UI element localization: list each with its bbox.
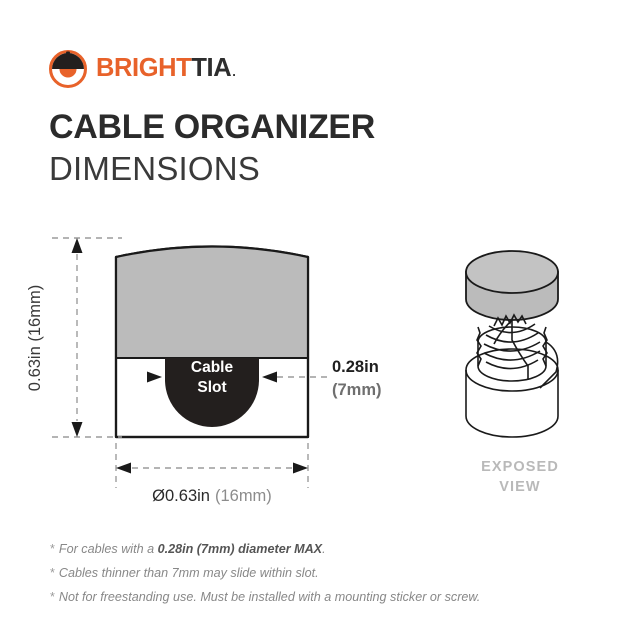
brand-name-dot: . <box>232 65 235 78</box>
brand-name-tia: TIA <box>191 56 231 82</box>
slot-dimension-value-in: 0.28in <box>332 358 379 376</box>
footnote-bullet: * <box>50 566 55 580</box>
footnote-text-post: . <box>322 542 326 556</box>
width-dimension: Ø0.63in(16mm) <box>116 443 308 505</box>
exposed-view-cap <box>466 251 558 320</box>
exposed-view-label: EXPOSED VIEW <box>440 458 600 497</box>
slot-label-line1: Cable <box>191 359 234 376</box>
brighttia-circle-logo-icon <box>49 50 87 88</box>
dimension-spec-sheet: BRIGHTTIA. CABLE ORGANIZER DIMENSIONS <box>0 0 640 640</box>
footnote-text-pre: Not for freestanding use. Must be instal… <box>59 590 480 604</box>
footnote-item: *Not for freestanding use. Must be insta… <box>50 591 595 604</box>
brand-logo: BRIGHTTIA. <box>49 50 235 88</box>
footnote-item: *Cables thinner than 7mm may slide withi… <box>50 567 595 580</box>
slot-dimension-value-mm: (7mm) <box>332 381 382 399</box>
width-value-in: Ø0.63in <box>152 487 210 505</box>
width-dimension-label: Ø0.63in(16mm) <box>152 487 272 505</box>
footnote-text-bold: 0.28in (7mm) diameter MAX <box>158 542 322 556</box>
page-title: CABLE ORGANIZER <box>49 110 375 146</box>
footnote-bullet: * <box>50 590 55 604</box>
width-value-mm: (16mm) <box>215 487 272 505</box>
brand-wordmark: BRIGHTTIA. <box>96 56 235 82</box>
brand-name-bright: BRIGHT <box>96 56 191 82</box>
exposed-view-label-line1: EXPOSED <box>440 458 600 478</box>
footnote-bullet: * <box>50 542 55 556</box>
page-subtitle: DIMENSIONS <box>49 152 260 187</box>
exposed-view-base <box>466 315 558 437</box>
footnote-text-pre: For cables with a <box>59 542 158 556</box>
footnote-text-pre: Cables thinner than 7mm may slide within… <box>59 566 319 580</box>
height-dimension-label: 0.63in (16mm) <box>26 285 44 391</box>
height-dimension: 0.63in (16mm) <box>26 238 122 437</box>
footnote-list: *For cables with a 0.28in (7mm) diameter… <box>50 543 595 615</box>
exposed-view-label-line2: VIEW <box>440 478 600 498</box>
footnote-item: *For cables with a 0.28in (7mm) diameter… <box>50 543 595 556</box>
cap-region <box>110 246 314 359</box>
slot-label-line2: Slot <box>197 379 226 396</box>
